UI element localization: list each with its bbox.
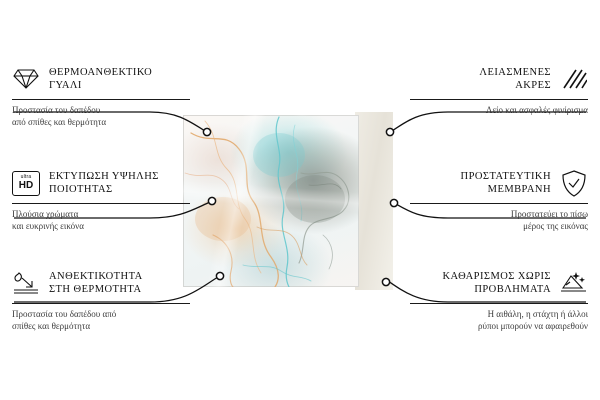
feature-header: ΛΕΙΑΣΜΕΝΕΣ ΑΚΡΕΣ [410,64,588,94]
divider [410,303,588,304]
glass-artwork-face [183,115,359,287]
feature-title: ΛΕΙΑΣΜΕΝΕΣ ΑΚΡΕΣ [479,66,551,92]
divider [410,99,588,100]
feature-title: ΠΡΟΣΤΑΤΕΥΤΙΚΗ ΜΕΜΒΡΑΝΗ [461,170,551,196]
feature-header: ΘΕΡΜΟΑΝΘΕΚΤΙΚΟ ΓΥΑΛΙ [12,64,190,94]
feature-description: Πλούσια χρώματα και ευκρινής εικόνα [12,209,190,232]
feature-title: ΕΚΤΥΠΩΣΗ ΥΨΗΛΗΣ ΠΟΙΟΤΗΤΑΣ [49,170,159,196]
feature-header: ΚΑΘΑΡΙΣΜΟΣ ΧΩΡΙΣ ΠΡΟΒΛΗΜΑΤΑ [410,268,588,298]
feature-easy-cleaning: ΚΑΘΑΡΙΣΜΟΣ ΧΩΡΙΣ ΠΡΟΒΛΗΜΑΤΑ Η αιθάλη, η … [410,268,588,332]
feature-title: ΘΕΡΜΟΑΝΘΕΚΤΙΚΟ ΓΥΑΛΙ [49,66,152,92]
feature-protective-film: ΠΡΟΣΤΑΤΕΥΤΙΚΗ ΜΕΜΒΡΑΝΗ Προστατεύει το πί… [410,168,588,232]
feature-heat-durability: ΑΝΘΕΚΤΙΚΟΤΗΤΑ ΣΤΗ ΘΕΡΜΟΤΗΤΑ Προστασία το… [12,268,190,332]
divider [12,303,190,304]
divider [12,203,190,204]
divider [410,203,588,204]
feature-high-quality-print: ultra HD ΕΚΤΥΠΩΣΗ ΥΨΗΛΗΣ ΠΟΙΟΤΗΤΑΣ Πλούσ… [12,168,190,232]
feature-header: ΑΝΘΕΚΤΙΚΟΤΗΤΑ ΣΤΗ ΘΕΡΜΟΤΗΤΑ [12,268,190,298]
feature-heat-resistant-glass: ΘΕΡΜΟΑΝΘΕΚΤΙΚΟ ΓΥΑΛΙ Προστασία του δαπέδ… [12,64,190,128]
feature-header: ΠΡΟΣΤΑΤΕΥΤΙΚΗ ΜΕΜΒΡΑΝΗ [410,168,588,198]
feature-description: Προστατεύει το πίσω μέρος της εικόνας [410,209,588,232]
diamond-icon [12,65,40,93]
infographic-page: ΘΕΡΜΟΑΝΘΕΚΤΙΚΟ ΓΥΑΛΙ Προστασία του δαπέδ… [0,0,600,400]
feature-description: Λείο και ασφαλές φινίρισμα [410,105,588,117]
product-image [183,112,393,290]
feature-header: ultra HD ΕΚΤΥΠΩΣΗ ΥΨΗΛΗΣ ΠΟΙΟΤΗΤΑΣ [12,168,190,198]
polished-edge-icon [560,65,588,93]
feature-title: ΚΑΘΑΡΙΣΜΟΣ ΧΩΡΙΣ ΠΡΟΒΛΗΜΑΤΑ [442,270,551,296]
glass-edge-panel [355,112,393,290]
feature-description: Προστασία του δαπέδου από σπίθες και θερ… [12,105,190,128]
flame-deflect-icon [12,269,40,297]
ultra-hd-icon: ultra HD [12,169,40,197]
feature-description: Προστασία του δαπέδου από σπίθες και θερ… [12,309,190,332]
shield-check-icon [560,169,588,197]
easy-clean-sparkle-icon [560,269,588,297]
divider [12,99,190,100]
feature-polished-edges: ΛΕΙΑΣΜΕΝΕΣ ΑΚΡΕΣ Λείο και ασφαλές φινίρι… [410,64,588,117]
ink-artwork-veins [183,115,359,287]
feature-title: ΑΝΘΕΚΤΙΚΟΤΗΤΑ ΣΤΗ ΘΕΡΜΟΤΗΤΑ [49,270,143,296]
glass-top-highlight [287,109,317,116]
feature-description: Η αιθάλη, η στάχτη ή άλλοι ρύποι μπορούν… [410,309,588,332]
